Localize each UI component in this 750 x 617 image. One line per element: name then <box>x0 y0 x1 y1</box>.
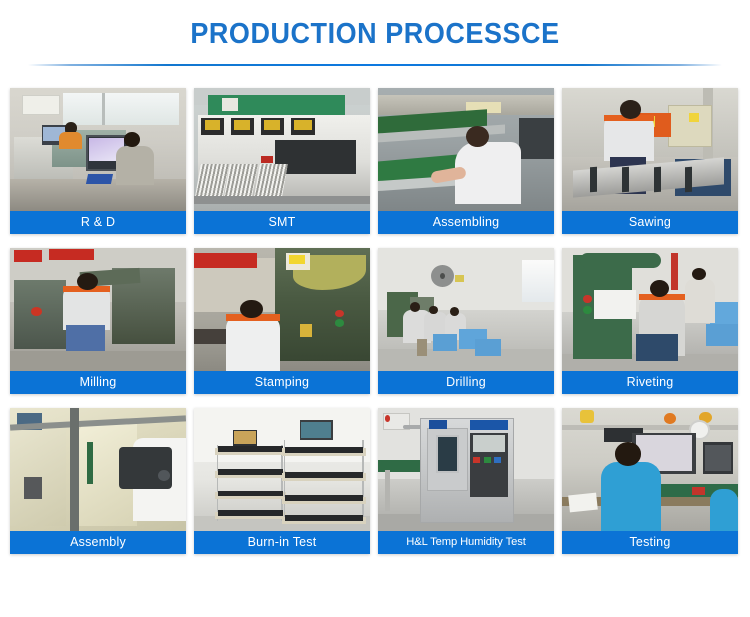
card-caption-assembling: Assembling <box>378 211 554 234</box>
process-card-assembly[interactable]: Assembly <box>10 408 186 554</box>
card-caption-smt: SMT <box>194 211 370 234</box>
card-caption-testing: Testing <box>562 531 738 554</box>
photo-hl-temp-humidity-test <box>378 408 554 531</box>
photo-stamping <box>194 248 370 371</box>
process-card-testing[interactable]: Testing <box>562 408 738 554</box>
process-card-stamping[interactable]: Stamping <box>194 248 370 394</box>
process-card-riveting[interactable]: Riveting <box>562 248 738 394</box>
process-card-sawing[interactable]: Sawing <box>562 88 738 234</box>
photo-assembly <box>10 408 186 531</box>
photo-smt <box>194 88 370 211</box>
card-caption-rd: R & D <box>10 211 186 234</box>
photo-drilling <box>378 248 554 371</box>
process-grid: R & D <box>10 66 740 554</box>
photo-assembling <box>378 88 554 211</box>
process-card-rd[interactable]: R & D <box>10 88 186 234</box>
card-caption-drilling: Drilling <box>378 371 554 394</box>
card-caption-riveting: Riveting <box>562 371 738 394</box>
photo-sawing <box>562 88 738 211</box>
photo-burn-in-test <box>194 408 370 531</box>
photo-riveting <box>562 248 738 371</box>
process-card-burn-in-test[interactable]: Burn-in Test <box>194 408 370 554</box>
card-caption-stamping: Stamping <box>194 371 370 394</box>
card-caption-assembly: Assembly <box>10 531 186 554</box>
process-card-milling[interactable]: Milling <box>10 248 186 394</box>
process-card-hl-temp-humidity-test[interactable]: H&L Temp Humidity Test <box>378 408 554 554</box>
page-title: PRODUCTION PROCESSCE <box>26 17 724 51</box>
process-card-smt[interactable]: SMT <box>194 88 370 234</box>
card-caption-burn-in-test: Burn-in Test <box>194 531 370 554</box>
card-caption-hl-temp-humidity-test: H&L Temp Humidity Test <box>378 531 554 554</box>
photo-testing <box>562 408 738 531</box>
card-caption-sawing: Sawing <box>562 211 738 234</box>
photo-milling <box>10 248 186 371</box>
process-card-assembling[interactable]: Assembling <box>378 88 554 234</box>
page-header: PRODUCTION PROCESSCE <box>0 0 750 66</box>
process-card-drilling[interactable]: Drilling <box>378 248 554 394</box>
card-caption-milling: Milling <box>10 371 186 394</box>
photo-rd <box>10 88 186 211</box>
